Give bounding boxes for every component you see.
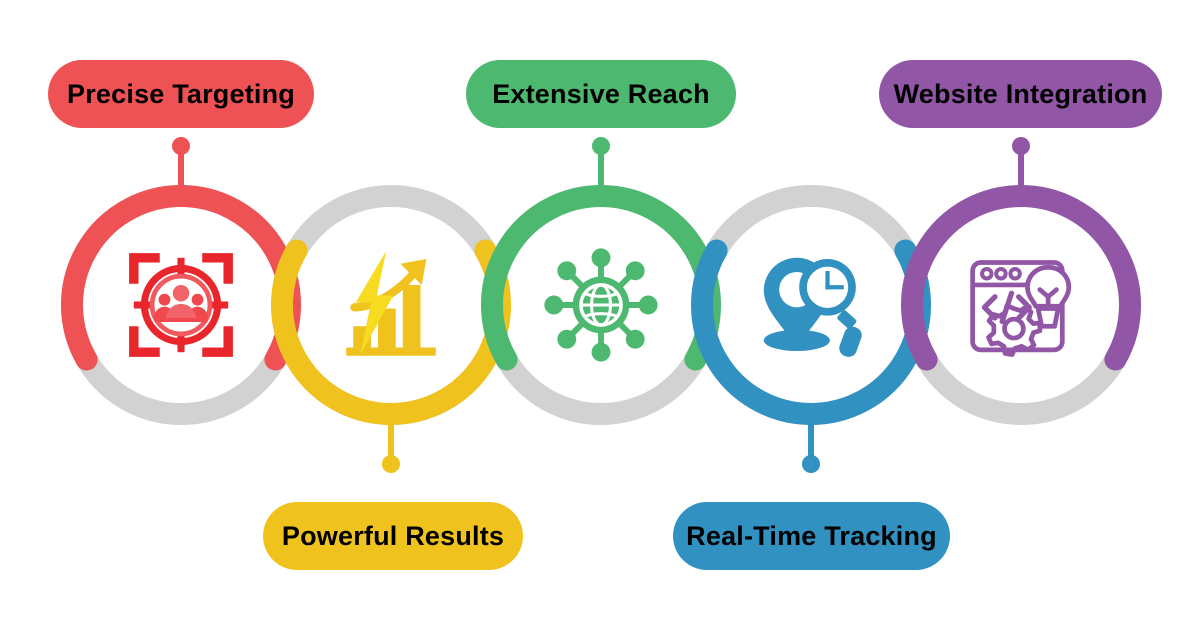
- connector-dot-2: [382, 455, 400, 473]
- location-clock-search-icon: [752, 246, 870, 364]
- label-pill-extensive-reach[interactable]: Extensive Reach: [466, 60, 736, 128]
- label-pill-precise-targeting[interactable]: Precise Targeting: [48, 60, 314, 128]
- target-audience-icon: [122, 246, 240, 364]
- icon-container-precise-targeting: [118, 242, 244, 368]
- label-text-powerful-results: Powerful Results: [282, 521, 504, 552]
- global-network-icon: [542, 246, 660, 364]
- label-pill-website-integration[interactable]: Website Integration: [879, 60, 1162, 128]
- growth-chart-lightning-icon: [332, 246, 450, 364]
- label-text-real-time-tracking: Real-Time Tracking: [686, 521, 937, 552]
- label-pill-powerful-results[interactable]: Powerful Results: [263, 502, 523, 570]
- label-text-precise-targeting: Precise Targeting: [67, 79, 295, 110]
- icon-container-website-integration: [958, 242, 1084, 368]
- label-text-website-integration: Website Integration: [894, 79, 1148, 110]
- connector-dot-5: [1012, 137, 1030, 155]
- connector-dot-1: [172, 137, 190, 155]
- web-development-icon: [962, 246, 1080, 364]
- icon-container-extensive-reach: [538, 242, 664, 368]
- label-pill-real-time-tracking[interactable]: Real-Time Tracking: [673, 502, 950, 570]
- infographic-canvas: Precise Targeting Powerful Results Exten…: [0, 0, 1200, 630]
- connector-dot-4: [802, 455, 820, 473]
- icon-container-real-time-tracking: [748, 242, 874, 368]
- connector-dot-3: [592, 137, 610, 155]
- label-text-extensive-reach: Extensive Reach: [492, 79, 710, 110]
- icon-container-powerful-results: [328, 242, 454, 368]
